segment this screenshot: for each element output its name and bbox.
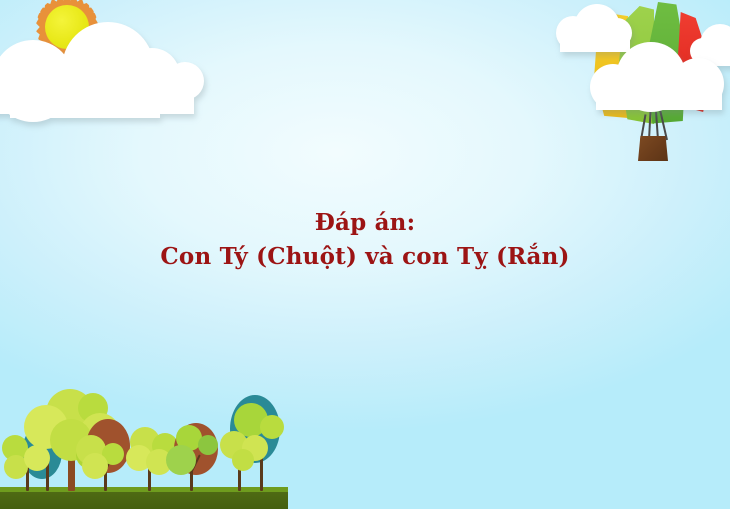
tree-teal-right xyxy=(212,395,288,491)
balloon-rope xyxy=(648,112,651,140)
answer-label: Đáp án: xyxy=(0,208,730,237)
cloud-top-left xyxy=(0,22,215,117)
tree-brown-left xyxy=(76,413,132,491)
cloud-balloon-front xyxy=(590,42,730,114)
slide-canvas: Đáp án: Con Tý (Chuột) và con Tỵ (Rắn) xyxy=(0,0,730,509)
tree-foliage xyxy=(260,415,284,439)
tree-foliage xyxy=(82,453,108,479)
tree-foliage xyxy=(166,445,196,475)
tree-foliage xyxy=(232,449,254,471)
answer-block: Đáp án: Con Tý (Chuột) và con Tỵ (Rắn) xyxy=(0,208,730,272)
answer-text: Con Tý (Chuột) và con Tỵ (Rắn) xyxy=(0,242,730,271)
balloon-basket xyxy=(638,136,668,161)
